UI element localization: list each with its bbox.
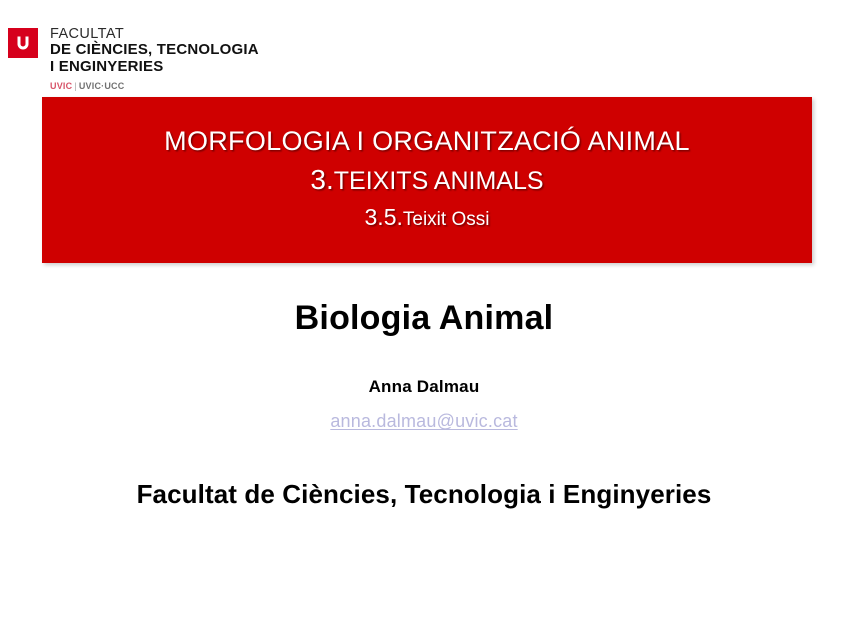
uvic-brand-mark: UVIC|UVIC·UCC xyxy=(50,81,259,91)
banner-chapter-number: 3. xyxy=(310,164,333,195)
faculty-footer-line: Facultat de Ciències, Tecnologia i Engin… xyxy=(0,480,848,509)
banner-subject-title: MORFOLOGIA I ORGANITZACIÓ ANIMAL xyxy=(164,127,690,155)
faculty-line-3: I ENGINYERIES xyxy=(50,59,259,76)
brand-primary: UVIC xyxy=(50,81,72,91)
brand-secondary: UVIC·UCC xyxy=(79,81,125,91)
slide-body: Biologia Animal Anna Dalmau anna.dalmau@… xyxy=(0,300,848,509)
banner-section-text: Teixit Ossi xyxy=(403,209,490,230)
banner-section-number: 3.5. xyxy=(365,204,403,230)
faculty-name-block: FACULTAT DE CIÈNCIES, TECNOLOGIA I ENGIN… xyxy=(50,26,259,91)
brand-separator: | xyxy=(74,81,77,91)
author-email-link[interactable]: anna.dalmau@uvic.cat xyxy=(330,412,517,432)
u-letter-glyph xyxy=(18,37,29,50)
banner-section-title: 3.5.Teixit Ossi xyxy=(365,205,490,230)
banner-chapter-text: TEIXITS ANIMALS xyxy=(334,167,544,195)
faculty-line-1: FACULTAT xyxy=(50,26,259,42)
course-title: Biologia Animal xyxy=(0,300,848,337)
author-name: Anna Dalmau xyxy=(0,378,848,397)
banner-chapter-title: 3.TEIXITS ANIMALS xyxy=(310,165,543,194)
uvic-logo-icon xyxy=(8,28,38,58)
faculty-line-2: DE CIÈNCIES, TECNOLOGIA xyxy=(50,42,259,59)
institution-logo: FACULTAT DE CIÈNCIES, TECNOLOGIA I ENGIN… xyxy=(8,26,259,91)
title-banner: MORFOLOGIA I ORGANITZACIÓ ANIMAL 3.TEIXI… xyxy=(42,97,812,263)
